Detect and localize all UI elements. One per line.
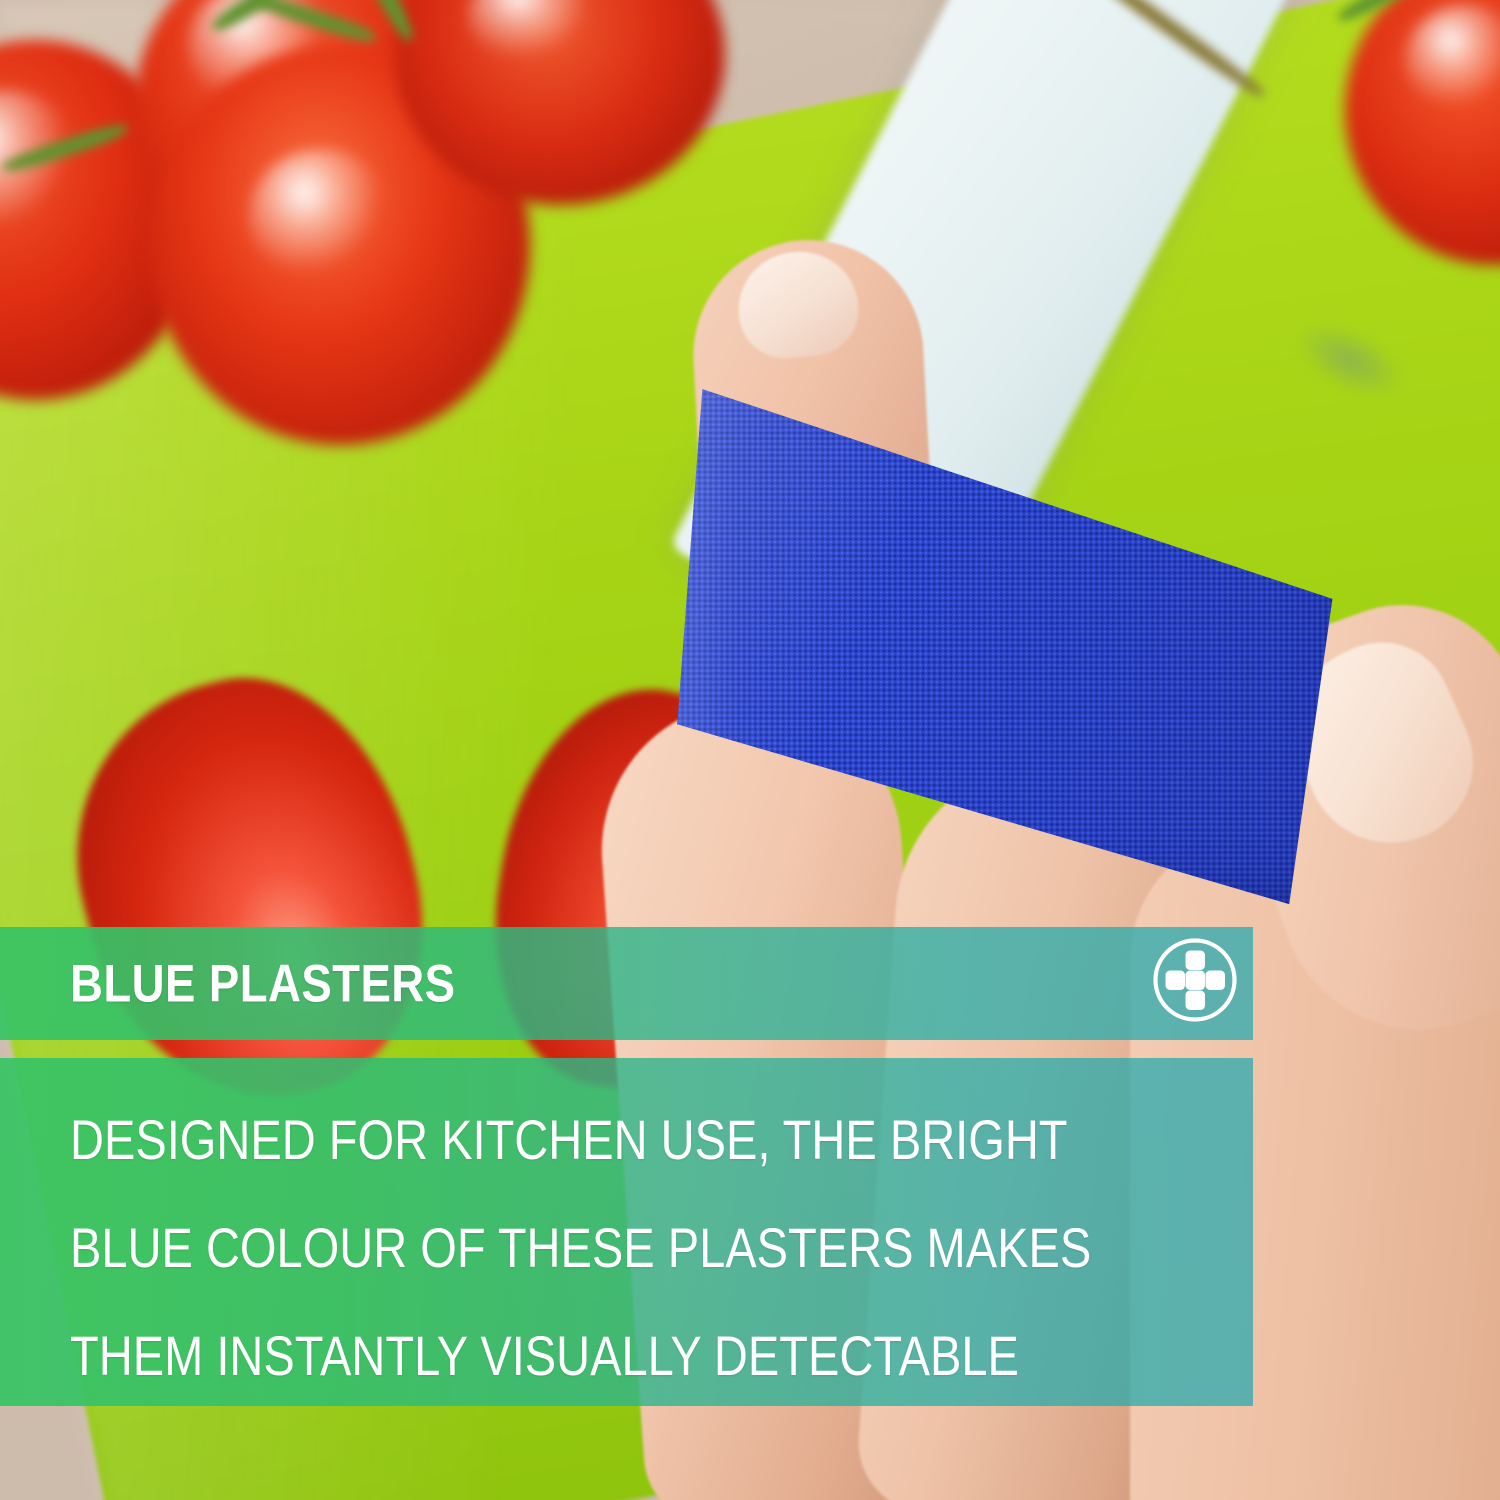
title-banner: BLUE PLASTERS bbox=[0, 927, 1253, 1040]
page-title: BLUE PLASTERS bbox=[70, 953, 518, 1014]
description-banner: DESIGNED FOR KITCHEN USE, THE BRIGHT BLU… bbox=[0, 1058, 1253, 1406]
product-marketing-image: BLUE PLASTERS DESIGNED FOR KITCHEN USE, … bbox=[0, 0, 1500, 1500]
description-text: DESIGNED FOR KITCHEN USE, THE BRIGHT BLU… bbox=[70, 1086, 1213, 1410]
first-aid-cross-icon bbox=[1152, 937, 1238, 1023]
description-line-1: DESIGNED FOR KITCHEN USE, THE BRIGHT bbox=[70, 1086, 1030, 1194]
description-line-2: BLUE COLOUR OF THESE PLASTERS MAKES bbox=[70, 1194, 1030, 1302]
description-line-3: THEM INSTANTLY VISUALLY DETECTABLE bbox=[70, 1302, 1030, 1410]
